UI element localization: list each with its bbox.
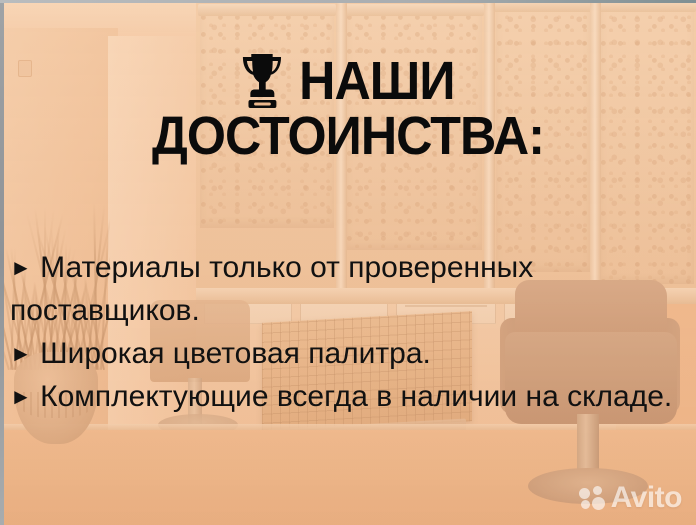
bullet-marker-icon: ►	[10, 384, 32, 409]
title-text-line-one: НАШИ	[299, 55, 454, 108]
bullet-marker-icon: ►	[10, 341, 32, 366]
avito-watermark: Avito	[579, 483, 682, 513]
title-line-one: НАШИ	[24, 52, 671, 110]
advantage-item: ► Комплектующие всегда в наличии на скла…	[10, 375, 690, 418]
advantages-list: ► Материалы только от проверенных постав…	[10, 246, 690, 418]
advantage-item-label: Комплектующие всегда в наличии на складе…	[32, 380, 673, 413]
advantage-item: ► Материалы только от проверенных постав…	[10, 246, 690, 332]
title-text-line-two: ДОСТОИНСТВА:	[24, 110, 671, 163]
bullet-marker-icon: ►	[10, 255, 32, 280]
avito-logo-icon	[579, 486, 606, 511]
trophy-icon	[241, 52, 284, 110]
top-edge-border	[0, 0, 696, 3]
left-edge-border	[0, 0, 4, 525]
page-title: НАШИ ДОСТОИНСТВА:	[24, 52, 671, 163]
advantage-item-label: Широкая цветовая палитра.	[32, 337, 431, 370]
advantage-item: ► Широкая цветовая палитра.	[10, 332, 690, 375]
advantages-banner: НАШИ ДОСТОИНСТВА: ► Материалы только от …	[0, 0, 696, 525]
banner-content: НАШИ ДОСТОИНСТВА: ► Материалы только от …	[0, 0, 696, 525]
advantage-item-label: Материалы только от проверенных поставщи…	[10, 251, 533, 327]
avito-wordmark: Avito	[611, 483, 682, 513]
